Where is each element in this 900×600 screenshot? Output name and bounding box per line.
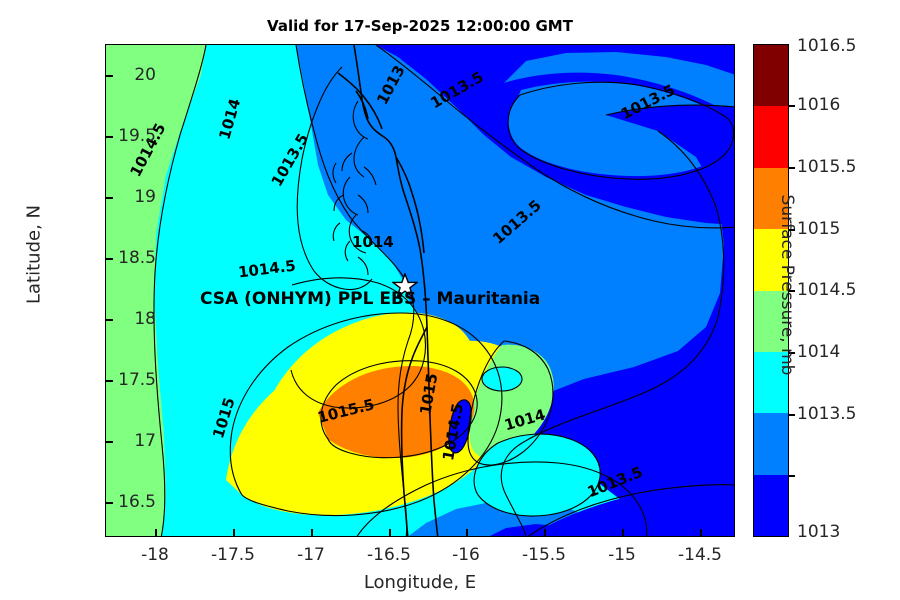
figure-canvas: Valid for 17-Sep-2025 12:00:00 GMT [0,0,900,600]
figure-title: Valid for 17-Sep-2025 12:00:00 GMT [0,17,840,35]
x-tickmark [233,529,235,537]
y-tick-label: 16.5 [118,492,156,512]
colorbar-tick-label: 1013 [797,522,840,542]
x-tickmark [389,529,391,537]
y-tick-label: 19.5 [118,126,156,146]
y-tick-label: 17.5 [118,370,156,390]
x-tick-label: -16.5 [367,545,411,565]
colorbar-band-1016.5 [754,45,788,106]
colorbar-tick-label: 1016 [797,95,840,115]
colorbar-tickmark [789,167,795,169]
y-tick-label: 18.5 [118,248,156,268]
colorbar-band-1016 [754,106,788,167]
y-tickmark [105,258,113,260]
colorbar-tick-label: 1014.5 [797,280,856,300]
x-tick-label: -15.5 [522,545,566,565]
y-tickmark [105,75,113,77]
y-tickmark [105,319,113,321]
x-tick-label: -18 [141,545,169,565]
x-tickmark [311,529,313,537]
colorbar-band-1013.5 [754,413,788,474]
y-tickmark [105,380,113,382]
colorbar-tickmark [789,475,795,477]
x-tickmark [544,529,546,537]
y-tick-label: 17 [134,431,156,451]
x-tickmark [155,529,157,537]
y-tick-label: 18 [134,309,156,329]
colorbar-tick-label: 1015.5 [797,157,856,177]
x-tick-label: -17 [297,545,325,565]
x-tick-label: -15 [608,545,636,565]
x-tickmark [700,529,702,537]
y-tickmark [105,136,113,138]
x-tickmark [622,529,624,537]
colorbar-band-1013 [754,475,788,536]
contour-label: 1014 [352,233,394,251]
colorbar-tick-label: 1015 [797,219,840,239]
x-axis-label: Longitude, E [105,572,735,593]
colorbar-tick-label: 1016.5 [797,36,856,56]
colorbar-tick-label: 1014 [797,342,840,362]
y-tickmark [105,197,113,199]
y-tickmark [105,441,113,443]
y-tickmark [105,502,113,504]
contour-plot-area[interactable]: 1014.5 1014 1013.5 1013 1013.5 1013.5 10… [105,44,735,537]
site-label: CSA (ONHYM) PPL EBS – Mauritania [200,289,540,309]
y-axis-label: Latitude, N [24,155,45,355]
colorbar-tick-label: 1013.5 [797,404,856,424]
x-tick-label: -16 [452,545,480,565]
colorbar-axis-label: Surface Pressure, mb [777,170,797,400]
y-tick-label: 19 [134,187,156,207]
x-tickmark [466,529,468,537]
colorbar-tickmark [789,105,795,107]
x-tick-label: -14.5 [678,545,722,565]
y-tick-label: 20 [134,65,156,85]
colorbar-tickmark [789,414,795,416]
x-tick-label: -17.5 [211,545,255,565]
